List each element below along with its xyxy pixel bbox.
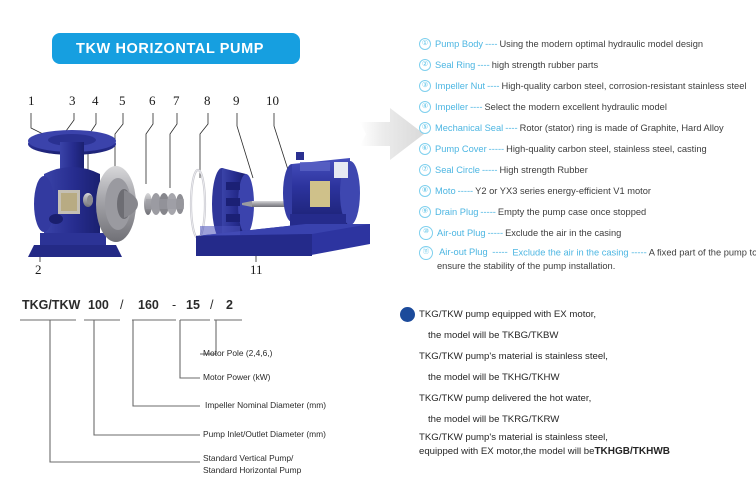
note-line-6: the model will be TKRG/TKRW <box>419 409 756 430</box>
nomenclature-leader-lines <box>0 292 400 492</box>
legend-item-9: ⑨ Drain Plug ----- Empty the pump case o… <box>419 201 756 222</box>
legend-item-name: Air-out Plug <box>437 228 486 238</box>
note-line-4: the model will be TKHG/TKHW <box>419 367 756 388</box>
legend-item-7: ⑦ Seal Circle ----- High strength Rubber <box>419 159 756 180</box>
legend-dash: ---- <box>487 81 499 91</box>
legend-dash: ----- <box>489 144 504 154</box>
legend-item-desc-line2: ensure the stability of the pump install… <box>419 260 756 273</box>
callout-1: 1 <box>28 93 35 109</box>
legend-item-name: Impeller Nut <box>435 81 485 91</box>
motor-part <box>283 152 360 234</box>
note-line-7: TKG/TKW pump's material is stainless ste… <box>419 430 756 444</box>
legend-number-icon: ① <box>419 38 431 50</box>
legend-item-desc: Select the modern excellent hydraulic mo… <box>484 102 666 112</box>
bullet-dot-icon <box>400 307 415 322</box>
legend-item-name: Pump Body <box>435 39 483 49</box>
legend-item-5: ⑤ Mechanical Seal ---- Rotor (stator) ri… <box>419 117 756 138</box>
legend-number-icon: ④ <box>419 101 431 113</box>
legend-dash: ----- <box>492 247 507 257</box>
legend-item-1: ① Pump Body ---- Using the modern optima… <box>419 33 756 54</box>
legend-item-desc: High-quality carbon steel, corrosion-res… <box>502 81 747 91</box>
legend-dash: ---- <box>505 123 517 133</box>
legend-dash-secondary: ----- <box>631 247 646 257</box>
note-line-2: the model will be TKBG/TKBW <box>419 325 756 346</box>
nom-label-inlet-diam: Pump Inlet/Outlet Diameter (mm) <box>203 429 326 440</box>
legend-item-name: Air-out Plug <box>439 247 488 257</box>
legend-item-name: Pump Cover <box>435 144 487 154</box>
note-line-1: TKG/TKW pump equipped with EX motor, <box>419 304 756 325</box>
legend-item-desc: Empty the pump case once stopped <box>498 207 646 217</box>
legend-dash: ---- <box>470 102 482 112</box>
base-plate-part <box>196 224 370 256</box>
legend-number-icon: ⑨ <box>419 206 431 218</box>
nom-label-pump-type-line2: Standard Horizontal Pump <box>203 465 301 476</box>
component-legend-list: ① Pump Body ---- Using the modern optima… <box>419 33 756 276</box>
impeller-part <box>96 166 138 242</box>
legend-item-name: Mechanical Seal <box>435 123 503 133</box>
impeller-nut-part <box>83 193 93 207</box>
callout-3: 3 <box>69 93 76 109</box>
legend-item-name: Seal Ring <box>435 60 475 70</box>
legend-item-desc: Exclude the air in the casing <box>505 228 621 238</box>
legend-dash: ----- <box>458 186 473 196</box>
note-line-8: equipped with EX motor,the model will be… <box>419 444 756 458</box>
callout-4: 4 <box>92 93 99 109</box>
note-final-model: TKHGB/TKHWB <box>594 446 670 457</box>
legend-number-icon: ⑥ <box>419 143 431 155</box>
mechanical-seal-part <box>144 193 184 215</box>
legend-dash: ----- <box>482 165 497 175</box>
note-line-3: TKG/TKW pump's material is stainless ste… <box>419 346 756 367</box>
nom-label-motor-power: Motor Power (kW) <box>203 372 270 383</box>
legend-dash: ---- <box>477 60 489 70</box>
note-final-prefix: equipped with EX motor,the model will be <box>419 446 594 457</box>
legend-dash: ---- <box>485 39 497 49</box>
legend-item-6: ⑥ Pump Cover ----- High-quality carbon s… <box>419 138 756 159</box>
callout-2: 2 <box>35 262 42 278</box>
right-arrow-icon <box>358 100 426 168</box>
legend-item-name: Moto <box>435 186 456 196</box>
callout-8: 8 <box>204 93 211 109</box>
legend-item-4: ④ Impeller ---- Select the modern excell… <box>419 96 756 117</box>
legend-dash: ----- <box>488 228 503 238</box>
legend-item-3: ③ Impeller Nut ---- High-quality carbon … <box>419 75 756 96</box>
pump-assembly-illustration <box>0 86 400 286</box>
legend-dash: ----- <box>480 207 495 217</box>
note-line-5: TKG/TKW pump delivered the hot water, <box>419 388 756 409</box>
legend-item-desc: high strength rubber parts <box>492 60 598 70</box>
legend-item-desc: Rotor (stator) ring is made of Graphite,… <box>520 123 724 133</box>
legend-item-2: ② Seal Ring ---- high strength rubber pa… <box>419 54 756 75</box>
nom-label-impeller-diam: Impeller Nominal Diameter (mm) <box>205 400 326 411</box>
model-nomenclature-diagram: TKG/TKW 100 / 160 - 15 / 2 Motor Pole (2… <box>0 292 400 492</box>
legend-number-icon: ③ <box>419 80 431 92</box>
legend-item-desc: Y2 or YX3 series energy-efficient V1 mot… <box>475 186 651 196</box>
nom-label-pump-type-line1: Standard Vertical Pump/ <box>203 453 293 464</box>
callout-9: 9 <box>233 93 240 109</box>
legend-item-8: ⑧ Moto ----- Y2 or YX3 series energy-eff… <box>419 180 756 201</box>
callout-11: 11 <box>250 262 263 278</box>
callout-7: 7 <box>173 93 180 109</box>
legend-item-desc: High-quality carbon steel, stainless ste… <box>506 144 707 154</box>
legend-number-icon: ⑪ <box>419 246 433 260</box>
legend-number-icon: ② <box>419 59 431 71</box>
legend-number-icon: ⑧ <box>419 185 431 197</box>
legend-item-desc: High strength Rubber <box>499 165 587 175</box>
model-variant-notes: TKG/TKW pump equipped with EX motor, the… <box>419 304 756 458</box>
exploded-pump-diagram: 1 2 3 4 5 6 7 8 9 10 11 <box>0 86 400 286</box>
legend-item-11: ⑪ Air-out Plug ----- Exclude the air in … <box>419 243 756 276</box>
legend-item-desc: Using the modern optimal hydraulic model… <box>499 39 703 49</box>
callout-6: 6 <box>149 93 156 109</box>
legend-item-name: Impeller <box>435 102 468 112</box>
legend-number-icon: ⑤ <box>419 122 431 134</box>
legend-number-icon: ⑦ <box>419 164 431 176</box>
legend-number-icon: ⑩ <box>419 226 433 240</box>
nom-label-motor-pole: Motor Pole (2,4,6,) <box>203 348 272 359</box>
legend-item-name: Drain Plug <box>435 207 478 217</box>
legend-item-10: ⑩ Air-out Plug ----- Exclude the air in … <box>419 222 756 243</box>
page-title-banner: TKW HORIZONTAL PUMP <box>52 33 300 64</box>
callout-5: 5 <box>119 93 126 109</box>
legend-item-desc: A fixed part of the pump to <box>649 247 756 257</box>
legend-item-name: Seal Circle <box>435 165 480 175</box>
callout-10: 10 <box>266 93 279 109</box>
page-title: TKW HORIZONTAL PUMP <box>52 41 264 57</box>
legend-item-desc-primary: Exclude the air in the casing <box>512 247 628 257</box>
